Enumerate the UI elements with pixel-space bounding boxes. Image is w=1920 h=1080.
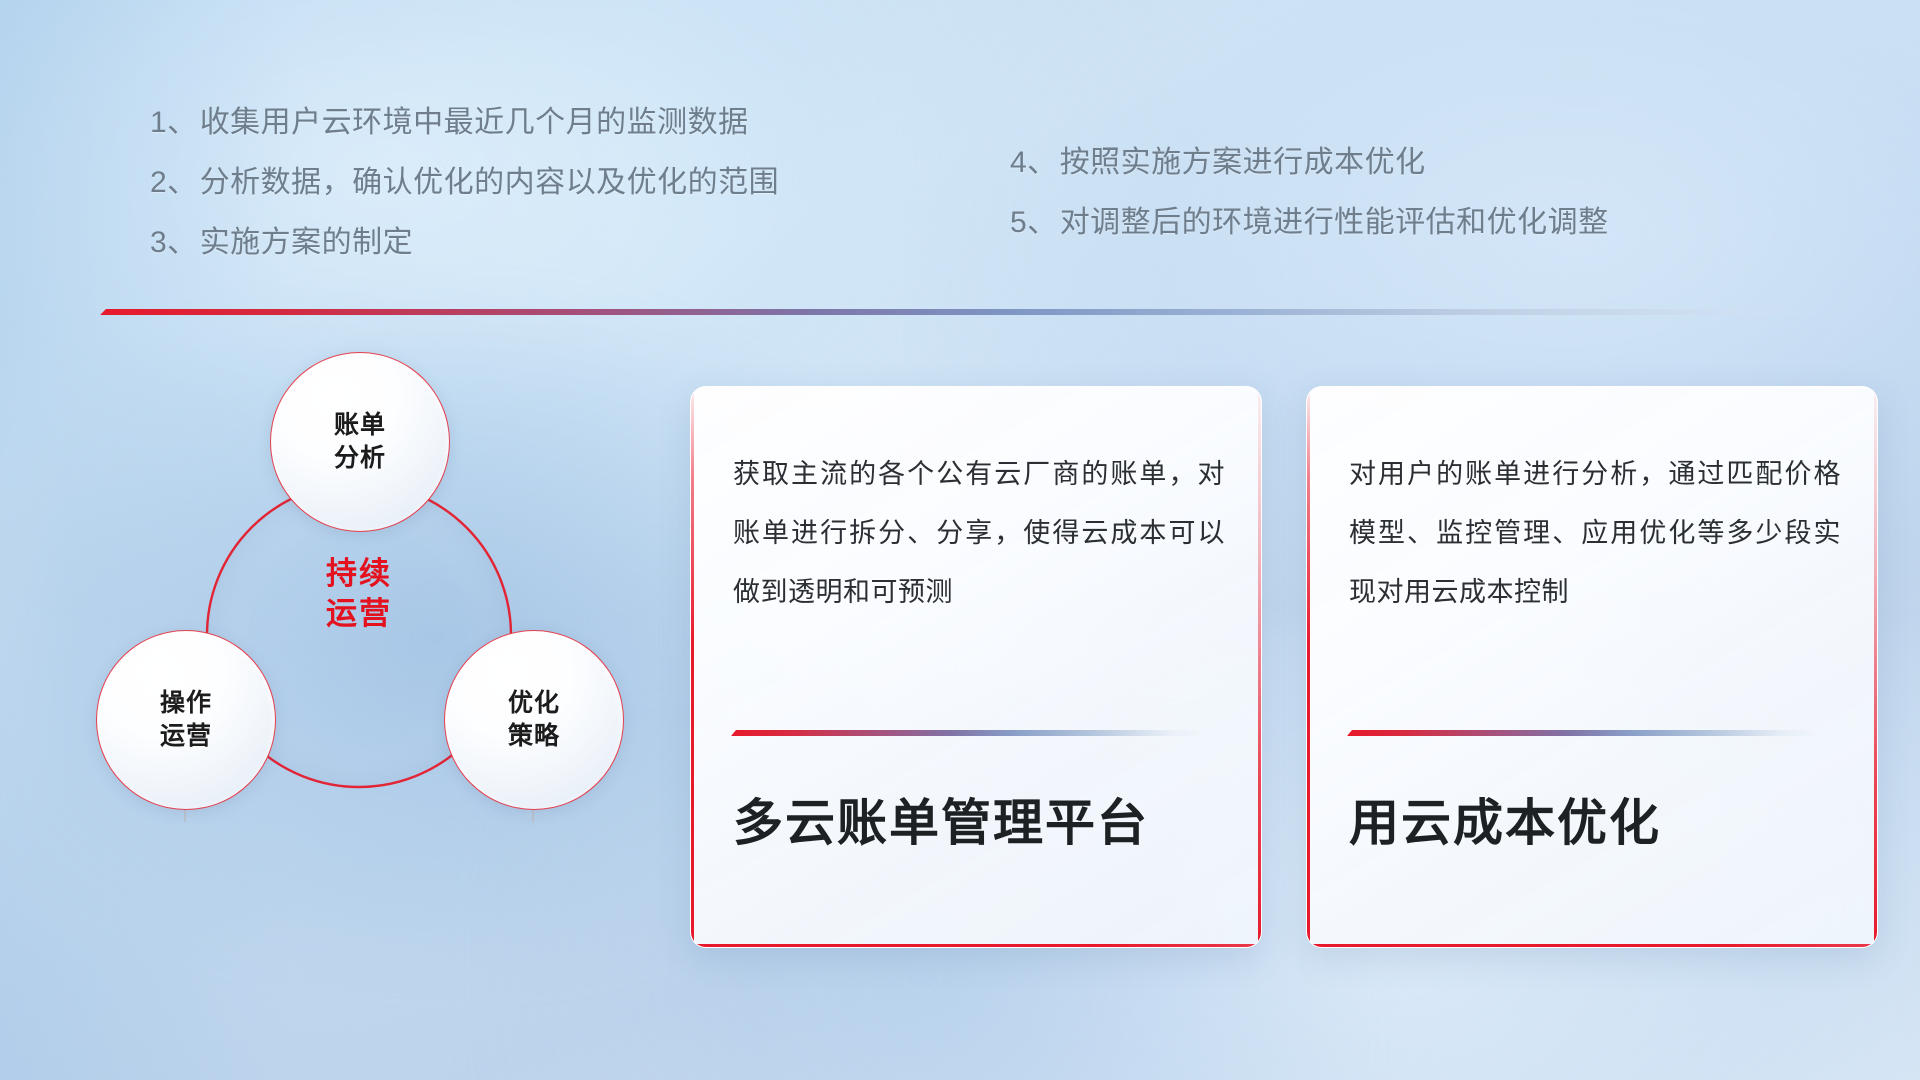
step-text: 实施方案的制定 [200, 228, 414, 258]
card-accent-edge-bottom [1307, 944, 1877, 947]
venn-center-label: 持续 运营 [252, 534, 466, 654]
venn-bubble-billing-analysis[interactable]: 账单 分析 [270, 352, 450, 532]
step-item: 2、 分析数据，确认优化的内容以及优化的范围 [150, 168, 779, 198]
card-title: 用云成本优化 [1349, 783, 1661, 855]
card-accent-edge-bottom [691, 944, 1261, 947]
feature-card-multi-cloud-billing-platform[interactable]: 获取主流的各个公有云厂商的账单，对账单进行拆分、分享，使得云成本可以做到透明和可… [690, 386, 1262, 948]
step-text: 收集用户云环境中最近几个月的监测数据 [200, 108, 749, 138]
card-divider [731, 730, 1207, 736]
venn-bubble-operations[interactable]: 操作 运营 [96, 630, 276, 810]
step-number: 3、 [150, 228, 198, 258]
venn-bubble-label-line1: 优化 [508, 687, 560, 720]
step-number: 1、 [150, 108, 198, 138]
step-item: 5、 对调整后的环境进行性能评估和优化调整 [1010, 208, 1609, 238]
venn-center-label-line2: 运营 [326, 594, 392, 634]
feature-card-cloud-cost-optimization[interactable]: 对用户的账单进行分析，通过匹配价格模型、监控管理、应用优化等多少段实现对用云成本… [1306, 386, 1878, 948]
venn-bubble-label-line1: 操作 [160, 687, 212, 720]
venn-bubble-optimization-strategy[interactable]: 优化 策略 [444, 630, 624, 810]
venn-bubble-label-line2: 分析 [334, 442, 386, 475]
card-accent-edge-left [1307, 387, 1310, 947]
card-body-text: 对用户的账单进行分析，通过匹配价格模型、监控管理、应用优化等多少段实现对用云成本… [1349, 445, 1841, 622]
venn-bubble-label-line2: 运营 [160, 720, 212, 753]
step-list-column-left: 1、 收集用户云环境中最近几个月的监测数据 2、 分析数据，确认优化的内容以及优… [150, 108, 779, 288]
venn-bubble-label-line2: 策略 [508, 720, 560, 753]
venn-center-label-line1: 持续 [326, 554, 392, 594]
card-body-text: 获取主流的各个公有云厂商的账单，对账单进行拆分、分享，使得云成本可以做到透明和可… [733, 445, 1225, 622]
section-divider [100, 309, 1860, 315]
step-text: 对调整后的环境进行性能评估和优化调整 [1060, 208, 1609, 238]
step-item: 3、 实施方案的制定 [150, 228, 779, 258]
card-accent-edge-right [1258, 387, 1261, 947]
card-accent-edge-left [691, 387, 694, 947]
step-number: 5、 [1010, 208, 1058, 238]
step-text: 分析数据，确认优化的内容以及优化的范围 [200, 168, 780, 198]
venn-bubble-label-line1: 账单 [334, 409, 386, 442]
step-number: 2、 [150, 168, 198, 198]
card-title: 多云账单管理平台 [733, 783, 1149, 855]
step-item: 4、 按照实施方案进行成本优化 [1010, 148, 1609, 178]
venn-diagram: 账单 分析 操作 运营 优化 策略 持续 运营 [96, 352, 636, 952]
step-item: 1、 收集用户云环境中最近几个月的监测数据 [150, 108, 779, 138]
card-divider [1347, 730, 1823, 736]
card-accent-edge-right [1874, 387, 1877, 947]
step-list-column-right: 4、 按照实施方案进行成本优化 5、 对调整后的环境进行性能评估和优化调整 [1010, 148, 1609, 268]
step-number: 4、 [1010, 148, 1058, 178]
step-text: 按照实施方案进行成本优化 [1060, 148, 1426, 178]
slide-canvas: 1、 收集用户云环境中最近几个月的监测数据 2、 分析数据，确认优化的内容以及优… [0, 0, 1920, 1080]
